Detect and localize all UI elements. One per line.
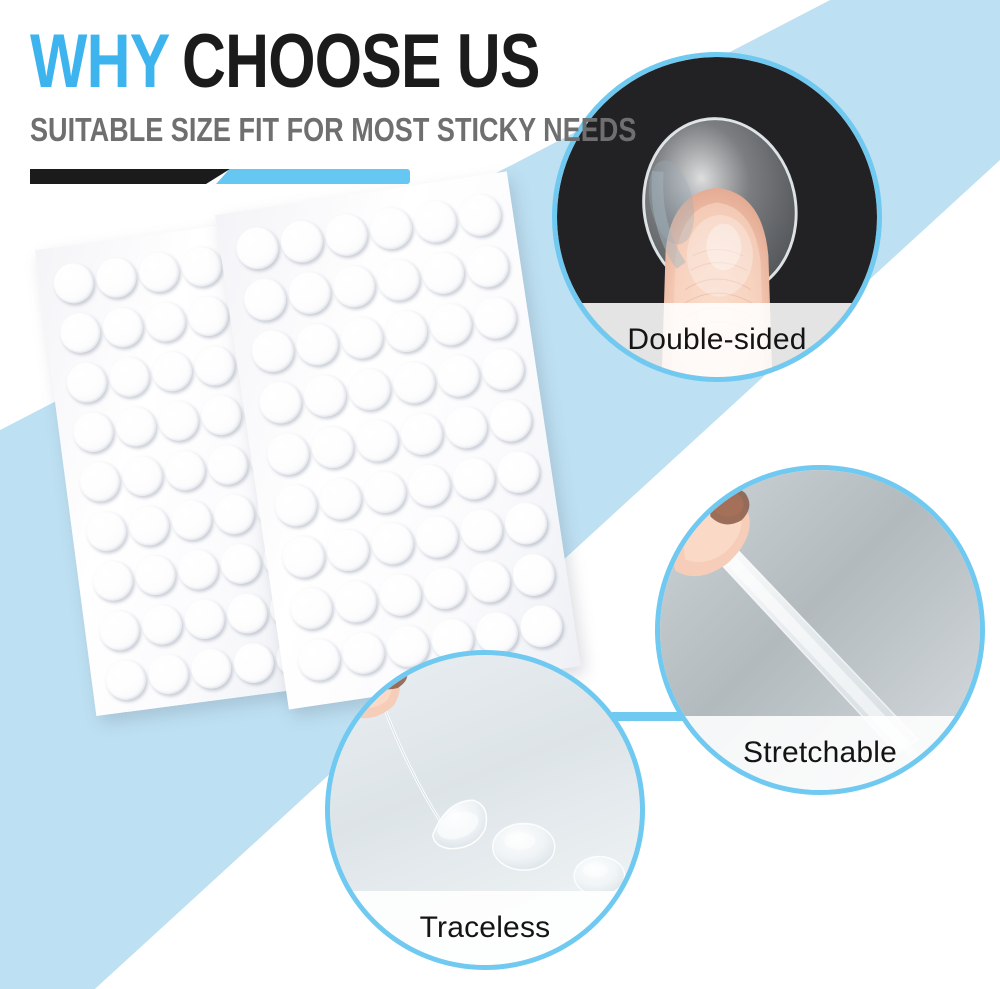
adhesive-dot: [322, 211, 370, 259]
adhesive-dot: [113, 404, 158, 449]
adhesive-dot: [382, 307, 430, 355]
caption-band-traceless: Traceless: [330, 891, 640, 965]
adhesive-dot: [150, 349, 195, 394]
adhesive-dot: [375, 256, 423, 304]
adhesive-dot: [361, 468, 409, 516]
adhesive-dot: [413, 513, 461, 561]
adhesive-dot: [287, 584, 335, 632]
adhesive-dot: [458, 506, 506, 554]
adhesive-dot: [456, 191, 504, 239]
adhesive-dot: [218, 541, 263, 586]
adhesive-dot: [205, 442, 250, 487]
infographic-page: WHY CHOOSE US SUITABLE SIZE FIT FOR MOST…: [0, 0, 1000, 989]
adhesive-dot: [367, 204, 415, 252]
adhesive-dot: [192, 343, 237, 388]
adhesive-dot: [90, 558, 135, 603]
adhesive-dot: [212, 492, 257, 537]
adhesive-dot: [182, 597, 227, 642]
adhesive-dot: [179, 244, 224, 289]
adhesive-dot: [264, 430, 312, 478]
adhesive-dot: [143, 299, 188, 344]
adhesive-dot: [51, 261, 96, 306]
adhesive-dot: [140, 602, 185, 647]
page-title: WHY CHOOSE US: [30, 26, 770, 99]
adhesive-dot: [301, 372, 349, 420]
adhesive-dot: [126, 503, 171, 548]
adhesive-dot: [107, 354, 152, 399]
callout-traceless[interactable]: Traceless: [325, 650, 645, 970]
adhesive-dot: [450, 455, 498, 503]
adhesive-dot: [471, 294, 519, 342]
adhesive-dot: [353, 417, 401, 465]
adhesive-dot: [330, 262, 378, 310]
adhesive-dot: [58, 310, 103, 355]
caption-traceless: Traceless: [420, 911, 551, 945]
adhesive-dot: [390, 359, 438, 407]
adhesive-dot: [494, 448, 542, 496]
caption-stretchable: Stretchable: [743, 736, 897, 770]
title-why: WHY: [30, 26, 169, 99]
adhesive-dot: [278, 218, 326, 266]
adhesive-dot: [419, 249, 467, 297]
adhesive-dot: [286, 269, 334, 317]
adhesive-dot: [176, 547, 221, 592]
title-choose-us: CHOOSE US: [182, 26, 540, 99]
adhesive-dot: [257, 379, 305, 427]
adhesive-dot: [293, 320, 341, 368]
adhesive-dot: [405, 461, 453, 509]
adhesive-dot: [412, 198, 460, 246]
adhesive-dot: [324, 526, 372, 574]
adhesive-dot: [280, 533, 328, 581]
adhesive-dot: [100, 305, 145, 350]
underline-segment-blue: [216, 169, 410, 184]
adhesive-dot: [71, 410, 116, 455]
adhesive-dot: [398, 410, 446, 458]
adhesive-dot: [133, 553, 178, 598]
adhesive-dot: [84, 509, 129, 554]
adhesive-dot: [186, 294, 231, 339]
adhesive-dot: [435, 352, 483, 400]
underline-segment-black: [30, 169, 230, 184]
adhesive-dot: [376, 571, 424, 619]
adhesive-dot: [510, 551, 558, 599]
adhesive-dot: [332, 578, 380, 626]
adhesive-dot: [169, 497, 214, 542]
adhesive-dot: [427, 300, 475, 348]
adhesive-dot: [199, 393, 244, 438]
page-subtitle: SUITABLE SIZE FIT FOR MOST STICKY NEEDS: [30, 111, 636, 149]
adhesive-dot: [465, 558, 513, 606]
adhesive-dot: [103, 657, 148, 702]
adhesive-dot: [338, 314, 386, 362]
adhesive-dot: [346, 365, 394, 413]
adhesive-dot: [241, 276, 289, 324]
adhesive-dot: [442, 403, 490, 451]
adhesive-dot: [136, 250, 181, 295]
adhesive-dot: [94, 255, 139, 300]
adhesive-dot: [316, 475, 364, 523]
callout-stretchable[interactable]: Stretchable: [655, 465, 985, 795]
adhesive-dot: [231, 641, 276, 686]
adhesive-dot: [77, 459, 122, 504]
adhesive-dot: [249, 327, 297, 375]
header-block: WHY CHOOSE US SUITABLE SIZE FIT FOR MOST…: [30, 26, 770, 184]
adhesive-dot: [421, 564, 469, 612]
adhesive-dot: [502, 500, 550, 548]
title-underline-bar: [30, 169, 410, 184]
adhesive-dot: [369, 519, 417, 567]
adhesive-dot: [518, 602, 566, 650]
adhesive-dot: [225, 591, 270, 636]
adhesive-dot: [97, 608, 142, 653]
adhesive-dot: [233, 224, 281, 272]
adhesive-dot: [487, 397, 535, 445]
adhesive-dot: [156, 398, 201, 443]
adhesive-dot: [189, 646, 234, 691]
adhesive-dot: [479, 345, 527, 393]
adhesive-dot: [309, 423, 357, 471]
adhesive-dot: [120, 453, 165, 498]
adhesive-dot: [163, 448, 208, 493]
caption-band-double-sided: Double-sided: [557, 303, 877, 377]
adhesive-dot: [64, 360, 109, 405]
adhesive-dot: [272, 481, 320, 529]
adhesive-dot: [464, 242, 512, 290]
caption-double-sided: Double-sided: [627, 323, 806, 357]
adhesive-dot: [146, 652, 191, 697]
caption-band-stretchable: Stretchable: [660, 716, 980, 790]
